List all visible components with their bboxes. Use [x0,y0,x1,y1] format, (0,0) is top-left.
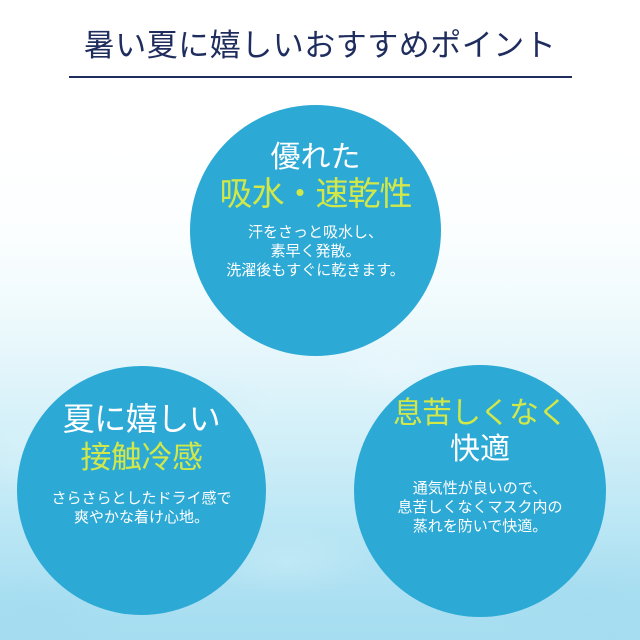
feature-headline-line1: 優れた [271,141,361,174]
feature-description: 汗をさっと吸水し、 素早く発散。 洗濯後もすぐに乾きます。 [226,224,405,281]
feature-description-line: 爽やかな着け心地。 [51,509,231,528]
feature-description-line: 素早く発散。 [226,243,405,262]
feature-description-line: 息苦しくなくマスク内の [397,499,562,518]
poster-header: 暑い夏に嬉しいおすすめポイント [0,0,640,66]
feature-circle-cooling: 夏に嬉しい 接触冷感 さらさらとしたドライ感で 爽やかな着け心地。 [17,366,266,615]
feature-description: さらさらとしたドライ感で 爽やかな着け心地。 [51,490,231,528]
feature-headline-line2: 吸水・速乾性 [220,176,412,212]
feature-headline-line1: 夏に嬉しい [63,402,221,437]
feature-headline-line2: 接触冷感 [81,441,203,475]
promo-poster: 暑い夏に嬉しいおすすめポイント 優れた 吸水・速乾性 汗をさっと吸水し、 素早く… [0,0,640,640]
title-underline-divider [69,76,572,78]
feature-circle-absorbency: 優れた 吸水・速乾性 汗をさっと吸水し、 素早く発散。 洗濯後もすぐに乾きます。 [190,105,441,356]
feature-description-line: 洗濯後もすぐに乾きます。 [226,262,405,281]
feature-description-line: 汗をさっと吸水し、 [226,224,405,243]
page-title: 暑い夏に嬉しいおすすめポイント [0,0,640,66]
feature-description-line: 通気性が良いので、 [397,480,562,499]
feature-headline-line2: 快適 [450,433,510,466]
feature-headline-line1: 息苦しくなく [393,397,567,430]
feature-description: 通気性が良いので、 息苦しくなくマスク内の 蒸れを防いで快適。 [397,480,562,537]
feature-description-line: さらさらとしたドライ感で [51,490,231,509]
feature-circle-breathable: 息苦しくなく 快適 通気性が良いので、 息苦しくなくマスク内の 蒸れを防いで快適… [354,365,606,617]
feature-description-line: 蒸れを防いで快適。 [397,518,562,537]
